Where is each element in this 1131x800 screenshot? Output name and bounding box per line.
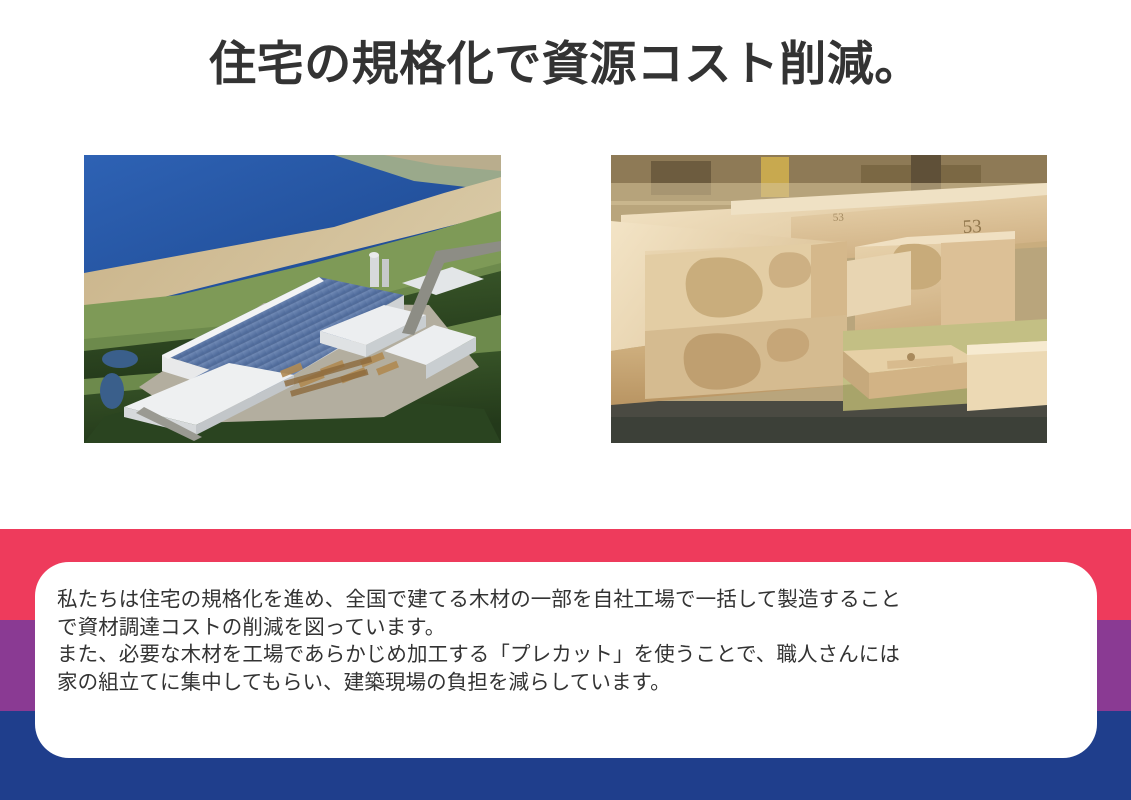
precut-timber-illustration: 53 53 bbox=[611, 155, 1047, 443]
svg-text:53: 53 bbox=[833, 211, 845, 224]
aerial-factory-illustration bbox=[84, 155, 501, 443]
description-card: 私たちは住宅の規格化を進め、全国で建てる木材の一部を自社工場で一括して製造するこ… bbox=[35, 562, 1097, 758]
description-text: 私たちは住宅の規格化を進め、全国で建てる木材の一部を自社工場で一括して製造するこ… bbox=[57, 586, 1079, 696]
slide-root: 住宅の規格化で資源コスト削減。 bbox=[0, 0, 1131, 800]
aerial-factory-photo bbox=[84, 155, 501, 443]
page-title: 住宅の規格化で資源コスト削減。 bbox=[0, 36, 1131, 92]
precut-timber-photo: 53 53 bbox=[611, 155, 1047, 443]
